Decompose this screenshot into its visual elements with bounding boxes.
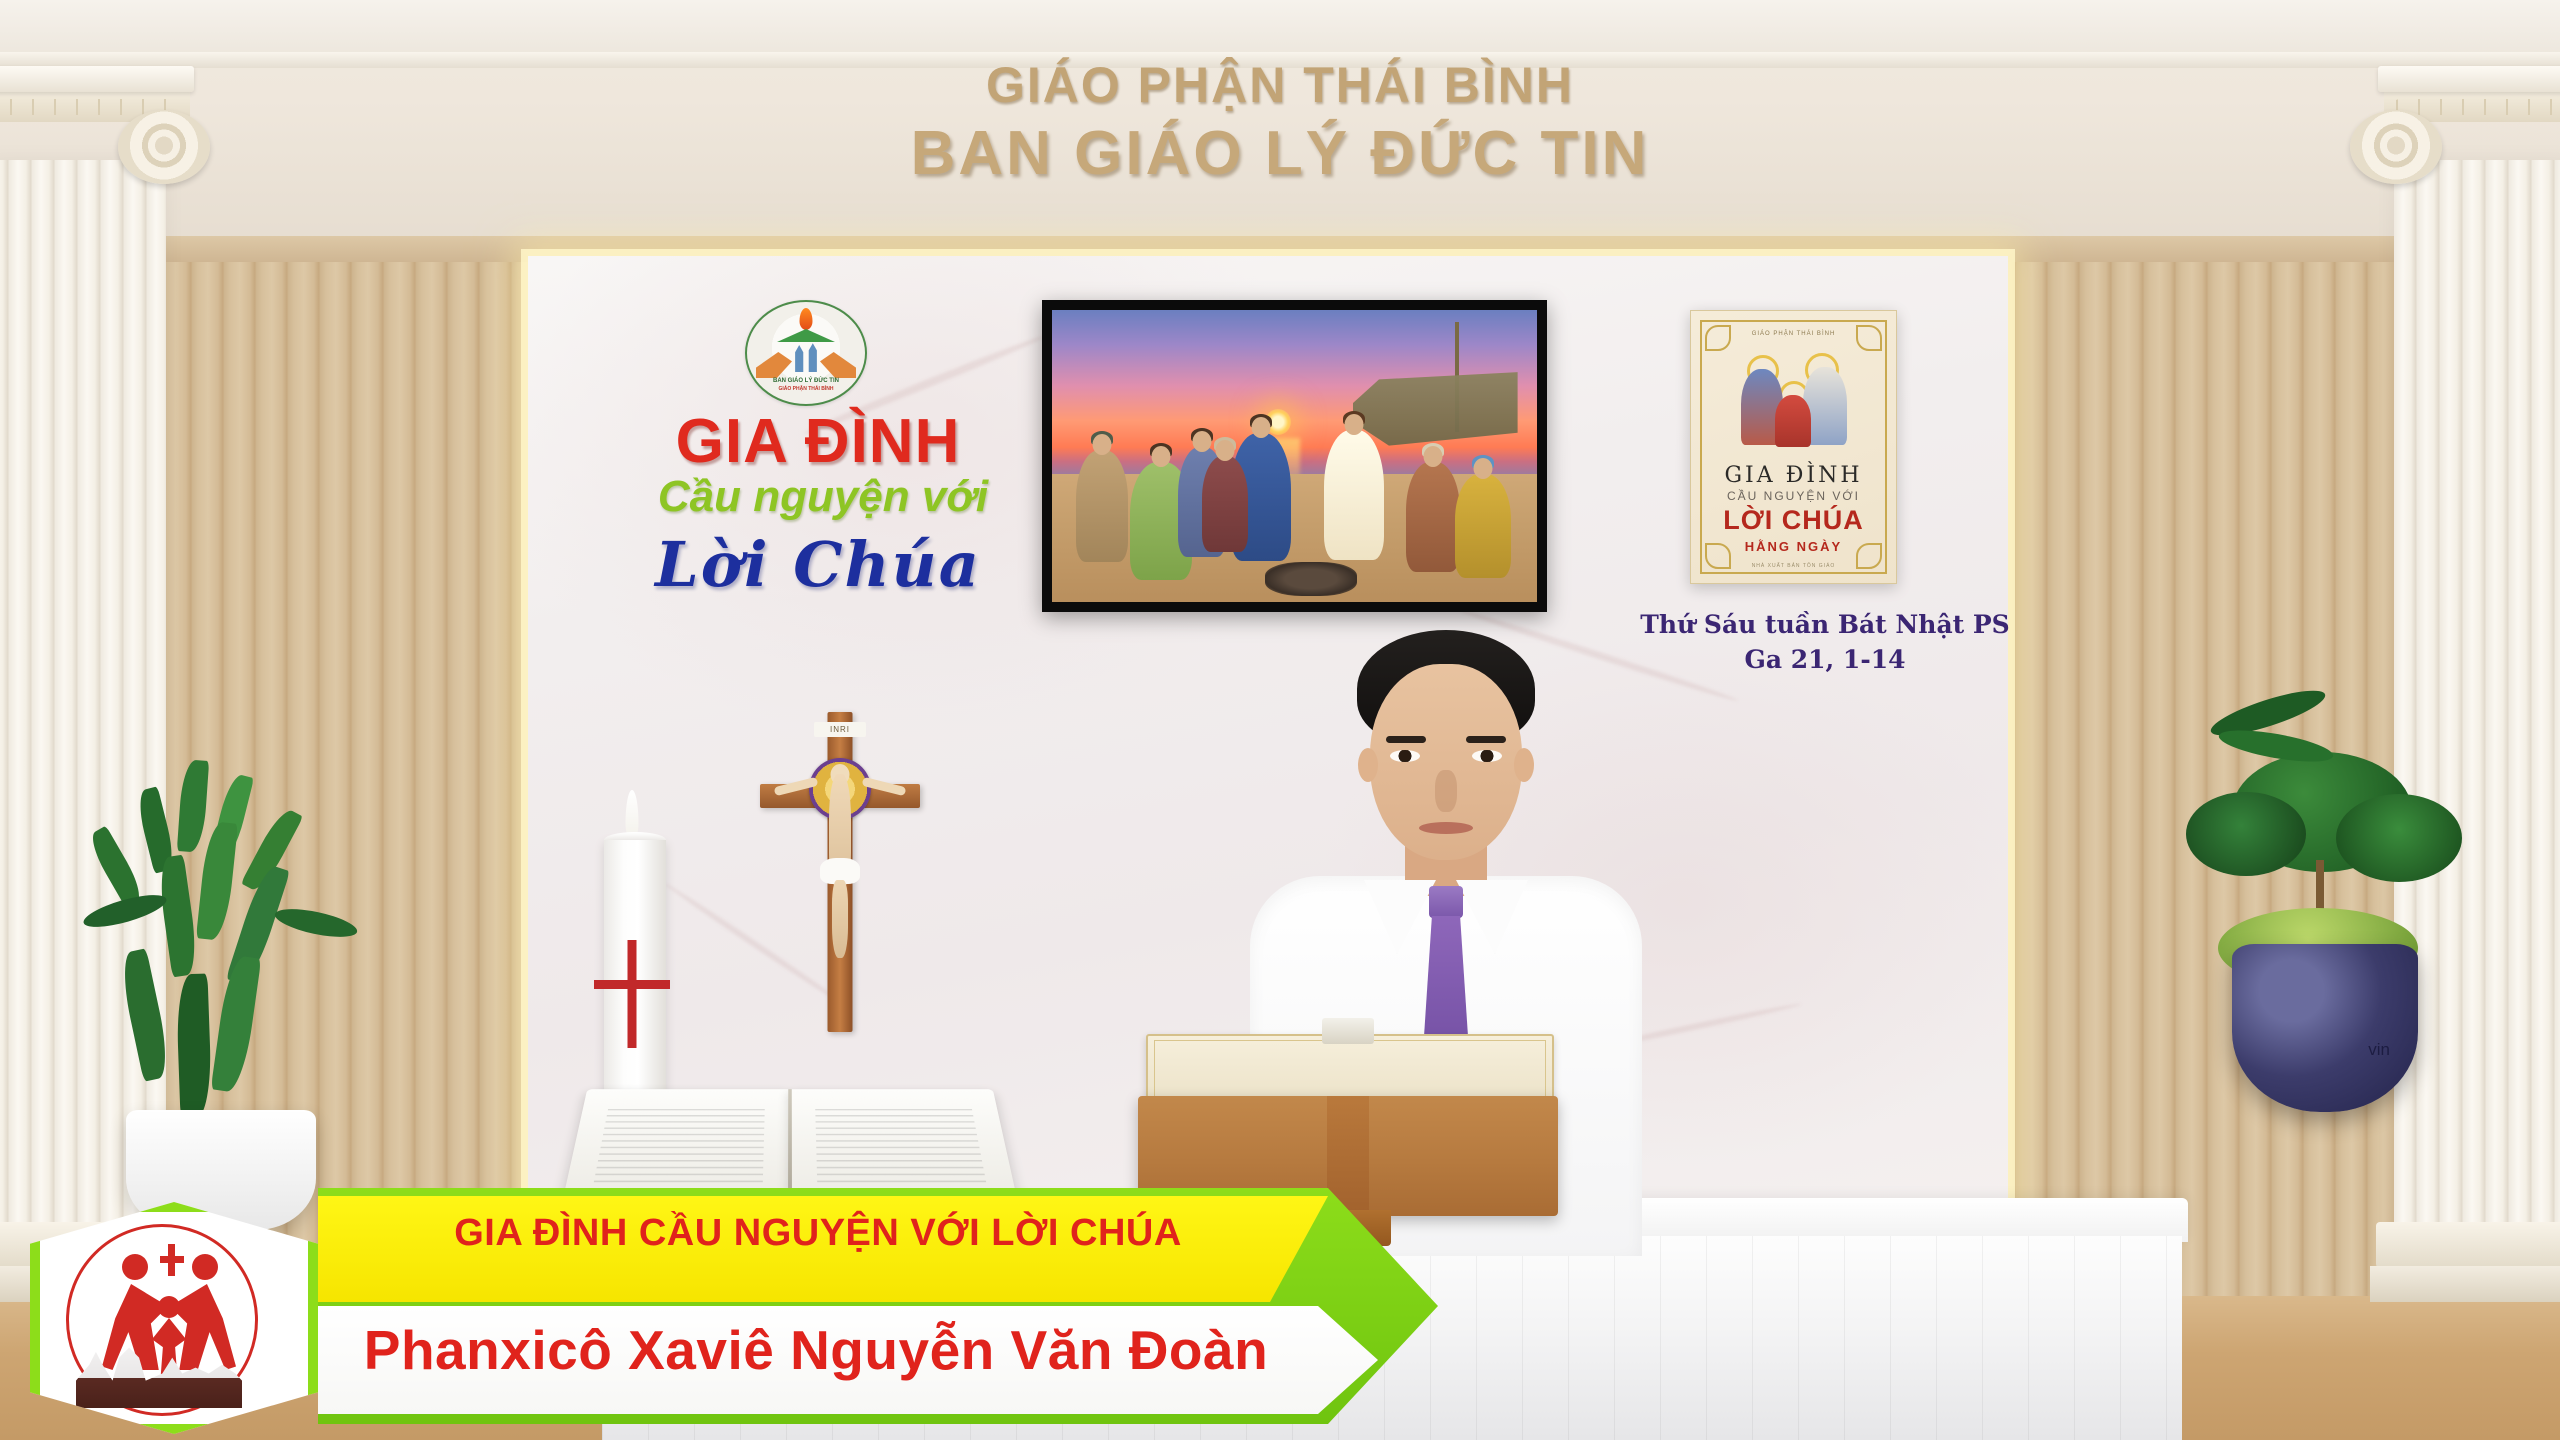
cross-icon-horizontal — [160, 1256, 184, 1263]
banner-speaker-name: Phanxicô Xaviê Nguyễn Văn Đoàn — [336, 1318, 1296, 1382]
scripture-citation: Ga 21, 1-14 — [1640, 643, 2010, 678]
disciple-figure — [1455, 474, 1511, 578]
emblem-text-top: BAN GIÁO LÝ ĐỨC TIN — [747, 378, 865, 384]
disciple-figure — [1202, 456, 1248, 552]
lower-third-banner: GIA ĐÌNH CẦU NGUYỆN VỚI LỜI CHÚA Phanxic… — [18, 1188, 1448, 1424]
candle-cross-vertical — [628, 940, 637, 1048]
scripture-painting-frame — [1042, 300, 1547, 612]
column-abacus — [0, 66, 194, 92]
program-logo-badge — [30, 1202, 318, 1434]
prayer-book-cover: GIÁO PHẬN THÁI BÌNH GIA ĐÌNH CẦU NGUYỆN … — [1690, 310, 1897, 584]
head — [1424, 446, 1443, 467]
blue-ceramic-pot: vin — [2232, 944, 2418, 1112]
broadcast-scene: GIÁO PHẬN THÁI BÌNH BAN GIÁO LÝ ĐỨC TIN … — [0, 0, 2560, 1440]
ceiling-cornice — [0, 52, 2560, 68]
flame-icon — [800, 308, 813, 330]
ear-left — [1358, 748, 1378, 782]
zz-plant-left — [60, 760, 380, 1230]
leaf — [273, 904, 360, 943]
head — [1151, 446, 1170, 467]
text-lines — [815, 1109, 988, 1187]
backdrop-subtitle: Cầu nguyện với — [608, 472, 1038, 522]
eye-right — [1472, 750, 1502, 762]
charcoal-fire — [1265, 562, 1357, 596]
column-base — [2376, 1222, 2560, 1268]
column-plinth — [2370, 1266, 2560, 1302]
child-jesus-figure — [1775, 395, 1811, 447]
column-volute-icon — [118, 110, 210, 184]
cover-title-3: LỜI CHÚA — [1691, 505, 1896, 536]
book-page-clip — [1322, 1018, 1374, 1044]
leaf-spray-right — [2208, 700, 2328, 900]
eye-left — [1390, 750, 1420, 762]
cover-publisher-bottom: NHÀ XUẤT BẢN TÔN GIÁO — [1691, 563, 1896, 569]
reading-reference: Thứ Sáu tuần Bát Nhật PS Ga 21, 1-14 — [1640, 608, 2010, 677]
nose — [1435, 770, 1457, 812]
leaf — [196, 821, 238, 941]
mouth — [1419, 822, 1473, 834]
cover-corner-ornament — [1705, 325, 1731, 351]
banner-program-title: GIA ĐÌNH CẦU NGUYỆN VỚI LỜI CHÚA — [348, 1212, 1288, 1255]
disciple-figure — [1076, 450, 1128, 562]
candle-cross-horizontal — [594, 980, 670, 989]
column-volute-icon — [2350, 110, 2442, 184]
tie-knot — [1429, 886, 1463, 918]
crucifix: INRI — [760, 712, 920, 1032]
holy-family-illustration — [1729, 351, 1859, 447]
head — [1252, 417, 1271, 438]
faith-department-emblem-icon: BAN GIÁO LÝ ĐỨC TIN GIÁO PHẬN THÁI BÌNH — [745, 300, 867, 406]
leaf — [177, 759, 209, 853]
jesus-figure — [1324, 430, 1384, 560]
parent-head-right — [192, 1254, 218, 1280]
inri-plaque: INRI — [814, 722, 866, 737]
emblem-text-bottom: GIÁO PHẬN THÁI BÌNH — [747, 386, 865, 392]
hand-icon-right — [820, 352, 856, 378]
cover-publisher-top: GIÁO PHẬN THÁI BÌNH — [1691, 331, 1896, 337]
backdrop-script-title: Lời Chúa — [628, 528, 1008, 601]
cathedral-icon — [789, 342, 823, 372]
disciple-figure — [1406, 462, 1460, 572]
ionic-column-right — [2394, 0, 2560, 1330]
leaf — [211, 954, 262, 1093]
column-abacus — [2378, 66, 2560, 92]
leaf — [175, 973, 212, 1118]
head — [1216, 440, 1235, 461]
leaf — [2217, 724, 2335, 768]
scripture-painting — [1052, 310, 1537, 602]
cover-corner-ornament — [1856, 325, 1882, 351]
eyebrow-left — [1386, 736, 1426, 743]
cover-title-4: HẰNG NGÀY — [1691, 539, 1896, 554]
corpus-legs — [832, 880, 848, 958]
liturgical-day: Thứ Sáu tuần Bát Nhật PS — [1640, 608, 2010, 643]
leaf — [117, 948, 173, 1081]
cover-title-2: CẦU NGUYỆN VỚI — [1691, 489, 1896, 503]
ceiling — [0, 0, 2560, 60]
pot-brand-label: vin — [2368, 1040, 2390, 1060]
head — [1093, 434, 1112, 455]
text-lines — [592, 1109, 765, 1187]
backdrop-title: GIA ĐÌNH — [628, 406, 1008, 477]
ear-right — [1514, 748, 1534, 782]
parent-head-left — [122, 1254, 148, 1280]
head — [1193, 431, 1212, 452]
child-head — [158, 1296, 180, 1318]
head — [1473, 458, 1492, 479]
hand-icon-left — [756, 352, 792, 378]
foliage-canopy — [2336, 794, 2462, 882]
open-book-icon — [777, 329, 835, 342]
leaf — [156, 855, 200, 978]
cover-title-1: GIA ĐÌNH — [1691, 463, 1896, 488]
head — [1344, 414, 1363, 435]
eyebrow-right — [1466, 736, 1506, 743]
